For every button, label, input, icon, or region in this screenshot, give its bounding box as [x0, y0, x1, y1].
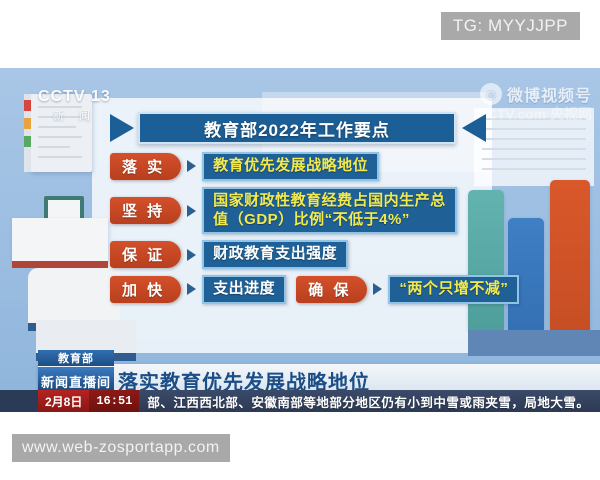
row-tag: 保 证: [110, 241, 181, 268]
triangle-icon: [187, 160, 196, 172]
infographic-title-text: 教育部2022年工作要点: [204, 116, 390, 141]
cctv-logo: CCTV 13 新 闻: [38, 88, 111, 123]
triangle-icon: [373, 283, 382, 295]
ticker-text: 部、江西西北部、安徽南部等地部分地区仍有小到中雪或雨夹雪，局地大雪。: [139, 392, 589, 411]
bar-orange: [550, 180, 590, 330]
row-tag: 坚 持: [110, 197, 181, 224]
row-chip-text-line1: 国家财政性教育经费占国内生产总: [213, 192, 446, 211]
arrow-left-icon: [110, 114, 134, 142]
ticker-time: 16:51: [89, 390, 139, 412]
infographic-row: 落 实 教育优先发展战略地位: [110, 152, 490, 181]
infographic-rows: 落 实 教育优先发展战略地位 坚 持 国家财政性教育经费占国内生产总 值（GDP…: [110, 152, 490, 310]
row-chip-secondary-text: “两个只增不减”: [399, 280, 508, 299]
row-chip: 教育优先发展战略地位: [202, 152, 379, 181]
cctv-com-label: CCTV.com 央视网: [477, 104, 592, 124]
triangle-icon: [187, 205, 196, 217]
infographic-row: 保 证 财政教育支出强度: [110, 240, 490, 269]
row-chip-text-line2: 值（GDP）比例“不低于4%”: [213, 211, 446, 230]
arrow-right-icon: [462, 114, 486, 142]
lower-third-label-top: 教育部: [38, 350, 114, 366]
row-chip: 支出进度: [202, 275, 286, 304]
watermark-bottom: www.web-zosportapp.com: [12, 434, 230, 462]
ticker-spacer: [0, 390, 38, 412]
cctv-logo-main: CCTV 13: [38, 88, 111, 106]
row-chip-secondary: “两个只增不减”: [388, 275, 519, 304]
ticker-date: 2月8日: [38, 390, 89, 412]
triangle-icon: [187, 249, 196, 261]
cctv-logo-sub: 新 闻: [38, 107, 111, 123]
book-white-stack: [12, 218, 108, 262]
bar-blue: [508, 218, 544, 330]
book-open: [28, 268, 120, 324]
row-chip-text: 支出进度: [213, 280, 275, 299]
row-tag-secondary: 确 保: [296, 276, 367, 303]
bookmark-green: [24, 136, 31, 147]
bookmark-orange: [24, 118, 31, 129]
infographic-row: 加 快 支出进度 确 保 “两个只增不减”: [110, 275, 490, 304]
weibo-eye-icon: ◉: [480, 83, 502, 105]
weibo-label: 微博视频号: [507, 82, 592, 106]
lower-third-label-bottom-text: 新闻直播间: [41, 372, 111, 391]
infographic-row: 坚 持 国家财政性教育经费占国内生产总 值（GDP）比例“不低于4%”: [110, 187, 490, 235]
row-chip: 国家财政性教育经费占国内生产总 值（GDP）比例“不低于4%”: [202, 187, 457, 235]
infographic-title: 教育部2022年工作要点: [138, 112, 456, 144]
news-ticker: 2月8日 16:51 部、江西西北部、安徽南部等地部分地区仍有小到中雪或雨夹雪，…: [0, 390, 600, 412]
row-chip: 财政教育支出强度: [202, 240, 348, 269]
bookmark-red: [24, 100, 31, 111]
video-frame: CCTV 13 新 闻 ◉ 微博视频号 CCTV.com 央视网 教育部2022…: [0, 68, 600, 412]
weibo-watermark: ◉ 微博视频号 CCTV.com 央视网: [477, 82, 592, 124]
watermark-top: TG: MYYJJPP: [441, 12, 580, 40]
infographic: 教育部2022年工作要点 落 实 教育优先发展战略地位 坚 持 国家财政性教育经…: [110, 108, 490, 356]
row-chip-text: 教育优先发展战略地位: [213, 157, 368, 176]
row-tag: 加 快: [110, 276, 181, 303]
triangle-icon: [187, 283, 196, 295]
row-tag: 落 实: [110, 153, 181, 180]
infographic-title-wrap: 教育部2022年工作要点: [110, 108, 490, 148]
lower-third-label-top-text: 教育部: [58, 350, 94, 366]
row-chip-text: 财政教育支出强度: [213, 245, 337, 264]
screenshot-stage: CCTV 13 新 闻 ◉ 微博视频号 CCTV.com 央视网 教育部2022…: [0, 0, 600, 480]
